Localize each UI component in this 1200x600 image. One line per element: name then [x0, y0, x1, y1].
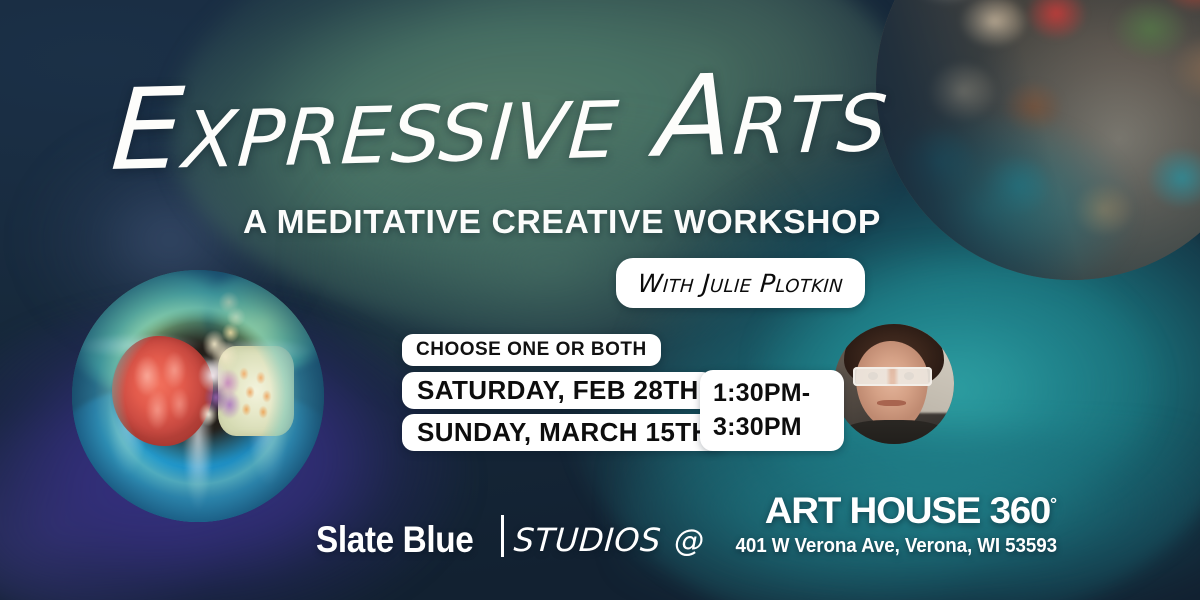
branding-row: Slate Blue STUDIOS @ ART HOUSE 360° 401 …	[316, 492, 1057, 558]
avatar-shoulders	[839, 420, 949, 444]
at-symbol-icon: @	[674, 527, 704, 557]
venue-block: ART HOUSE 360° 401 W Verona Ave, Verona,…	[715, 492, 1057, 558]
venue-degree-symbol: °	[1050, 495, 1057, 514]
studio-name: Slate Blue	[316, 521, 473, 558]
venue-name: ART HOUSE 360°	[765, 492, 1057, 529]
date-option-1: SATURDAY, FEB 28TH	[402, 372, 714, 409]
date-option-2: SUNDAY, MARCH 15TH	[402, 414, 726, 451]
time-start-label: 1:30PM-	[713, 377, 810, 411]
choose-option-note: CHOOSE ONE OR BOTH	[402, 334, 661, 366]
choose-option-label: CHOOSE ONE OR BOTH	[416, 339, 647, 361]
presenter-name: With Julie Plotkin	[637, 269, 844, 298]
collage-left-fade	[876, 0, 1200, 280]
time-end-label: 3:30PM	[713, 411, 802, 445]
avatar-mouth	[877, 400, 906, 406]
collage-photo-circle	[876, 0, 1200, 280]
branding-divider	[501, 515, 504, 557]
date-option-1-label: SATURDAY, FEB 28TH	[417, 375, 699, 406]
artwork-circle-rim	[72, 270, 324, 522]
studio-word: STUDIOS	[513, 524, 662, 558]
instructor-avatar	[834, 324, 954, 444]
venue-name-text: ART HOUSE 360	[765, 490, 1050, 531]
date-option-2-label: SUNDAY, MARCH 15TH	[417, 417, 711, 448]
page-title: Expressive Arts	[108, 55, 907, 189]
time-badge: 1:30PM- 3:30PM	[700, 370, 844, 451]
presenter-badge: With Julie Plotkin	[616, 258, 865, 308]
event-poster: Expressive Arts A MEDITATIVE CREATIVE WO…	[0, 0, 1200, 600]
venue-address: 401 W Verona Ave, Verona, WI 53593	[735, 534, 1056, 558]
page-subtitle: A MEDITATIVE CREATIVE WORKSHOP	[243, 203, 881, 241]
artwork-photo-circle	[72, 270, 324, 522]
avatar-glasses	[853, 367, 932, 386]
